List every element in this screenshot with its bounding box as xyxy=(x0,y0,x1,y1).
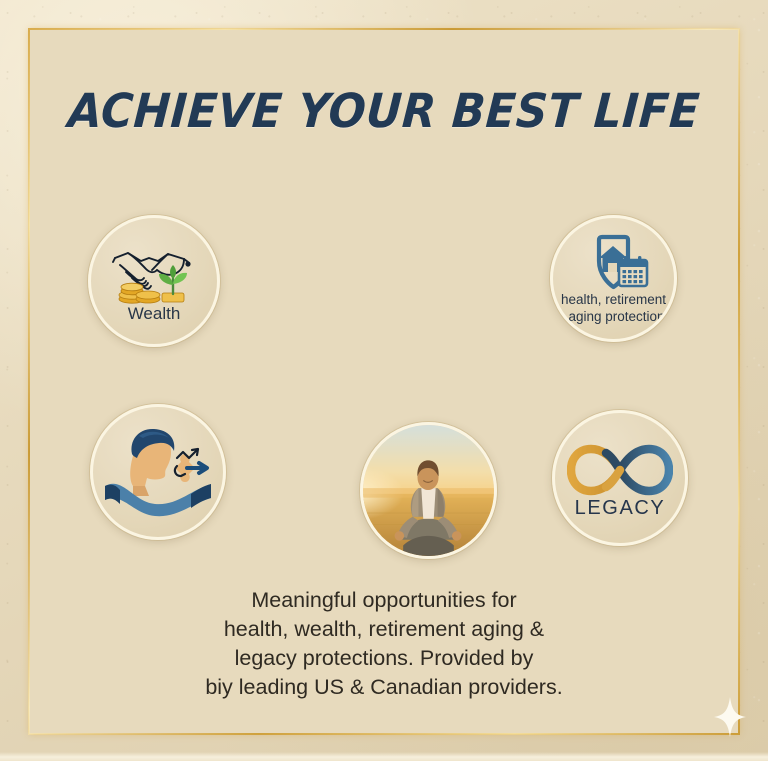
handshake-coins-plant-icon xyxy=(108,242,200,304)
badge-wealth-label: Wealth xyxy=(128,304,181,323)
badge-protections[interactable]: health, retirement & aging protections xyxy=(550,215,677,342)
infinity-icon xyxy=(567,443,673,497)
badge-wealth[interactable]: Wealth xyxy=(88,215,220,347)
body-line-3: legacy protections. Provided by xyxy=(0,644,768,673)
body-copy: Meaningful opportunities for health, wea… xyxy=(0,586,768,702)
bottom-light-band xyxy=(0,752,768,761)
shield-house-calendar-icon xyxy=(575,234,653,292)
body-line-2: health, wealth, retirement aging & xyxy=(0,615,768,644)
badge-protections-label-line1: health, retirement xyxy=(561,292,666,308)
badge-wellbeing[interactable] xyxy=(90,404,226,540)
badge-protections-label-line2: & aging protections xyxy=(556,309,672,325)
body-line-1: Meaningful opportunities for xyxy=(0,586,768,615)
page-title: ACHIEVE YOUR BEST LIFE xyxy=(25,88,742,135)
badge-legacy[interactable]: LEGACY xyxy=(552,410,688,546)
poster-canvas: ACHIEVE YOUR BEST LIFE xyxy=(0,0,768,761)
body-line-4: biy leading US & Canadian providers. xyxy=(0,673,768,702)
profile-head-wave-icon xyxy=(99,424,217,520)
woman-meditating-sunset-photo xyxy=(363,425,494,556)
badge-mindfulness[interactable] xyxy=(360,422,497,559)
badge-legacy-label: LEGACY xyxy=(575,497,666,519)
